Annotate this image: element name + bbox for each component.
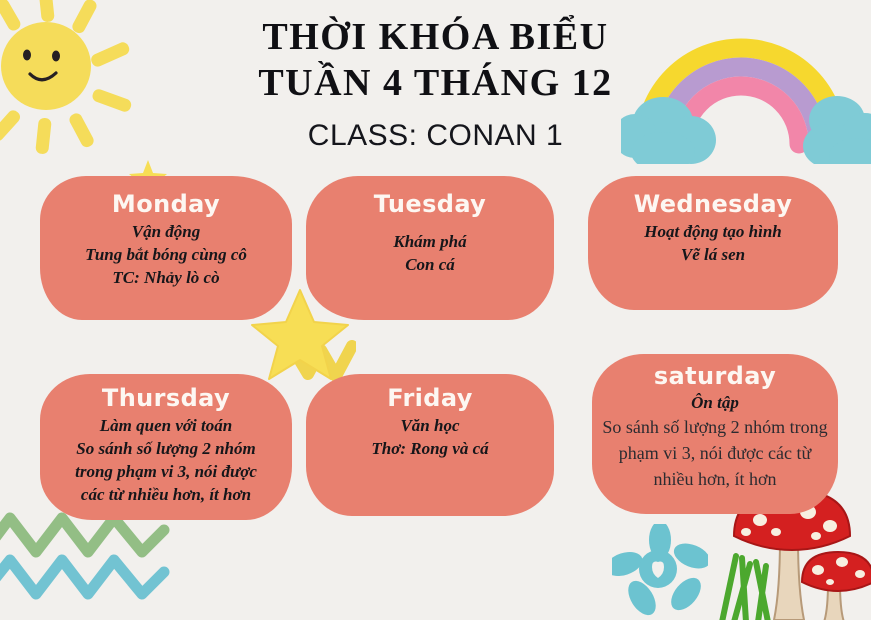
day-card-line: trong phạm vi 3, nói được bbox=[50, 460, 282, 483]
day-card-line: Làm quen với toán bbox=[50, 414, 282, 437]
day-card-monday[interactable]: Monday Vận động Tung bắt bóng cùng cô TC… bbox=[40, 176, 292, 320]
day-card-line: Ôn tập bbox=[602, 392, 828, 414]
page-title-line-1: THỜI KHÓA BIỂU bbox=[0, 0, 871, 60]
class-label: CLASS: CONAN 1 bbox=[0, 116, 871, 156]
day-card-line: Thơ: Rong và cá bbox=[316, 437, 544, 460]
day-card-saturday[interactable]: saturday Ôn tập So sánh số lượng 2 nhóm … bbox=[592, 354, 838, 514]
day-card-body: Văn học Thơ: Rong và cá bbox=[316, 414, 544, 460]
day-card-title: Friday bbox=[316, 384, 544, 412]
schedule-poster: THỜI KHÓA BIỂU TUẦN 4 THÁNG 12 CLASS: CO… bbox=[0, 0, 871, 620]
day-card-body: Làm quen với toán So sánh số lượng 2 nhó… bbox=[50, 414, 282, 506]
day-card-line: TC: Nhảy lò cò bbox=[50, 266, 282, 289]
day-card-title: Tuesday bbox=[316, 190, 544, 218]
zigzag-icon bbox=[0, 508, 182, 613]
day-card-line: Vận động bbox=[50, 220, 282, 243]
day-card-body: Khám phá Con cá bbox=[316, 230, 544, 276]
day-card-title: saturday bbox=[602, 362, 828, 390]
flower-icon bbox=[612, 524, 708, 620]
day-card-line: Tung bắt bóng cùng cô bbox=[50, 243, 282, 266]
day-card-friday[interactable]: Friday Văn học Thơ: Rong và cá bbox=[306, 374, 554, 516]
day-card-line: Vẽ lá sen bbox=[598, 243, 828, 266]
day-card-body: Vận động Tung bắt bóng cùng cô TC: Nhảy … bbox=[50, 220, 282, 289]
day-card-line: Con cá bbox=[316, 253, 544, 276]
day-card-body: Hoạt động tạo hình Vẽ lá sen bbox=[598, 220, 828, 266]
grass-icon bbox=[722, 556, 784, 620]
poster-header: THỜI KHÓA BIỂU TUẦN 4 THÁNG 12 CLASS: CO… bbox=[0, 0, 871, 156]
day-card-wednesday[interactable]: Wednesday Hoạt động tạo hình Vẽ lá sen bbox=[588, 176, 838, 310]
day-card-thursday[interactable]: Thursday Làm quen với toán So sánh số lư… bbox=[40, 374, 292, 520]
day-card-line: Văn học bbox=[316, 414, 544, 437]
page-title-line-2: TUẦN 4 THÁNG 12 bbox=[0, 60, 871, 106]
day-card-line: các từ nhiều hơn, ít hơn bbox=[50, 483, 282, 506]
day-card-line: So sánh số lượng 2 nhóm trong phạm vi 3,… bbox=[602, 414, 828, 492]
day-card-title: Monday bbox=[50, 190, 282, 218]
day-card-body: Ôn tập So sánh số lượng 2 nhóm trong phạ… bbox=[602, 392, 828, 492]
day-card-line: Hoạt động tạo hình bbox=[598, 220, 828, 243]
day-card-tuesday[interactable]: Tuesday Khám phá Con cá bbox=[306, 176, 554, 320]
day-card-line: Khám phá bbox=[316, 230, 544, 253]
day-card-line: So sánh số lượng 2 nhóm bbox=[50, 437, 282, 460]
day-card-title: Thursday bbox=[50, 384, 282, 412]
day-card-title: Wednesday bbox=[598, 190, 828, 218]
